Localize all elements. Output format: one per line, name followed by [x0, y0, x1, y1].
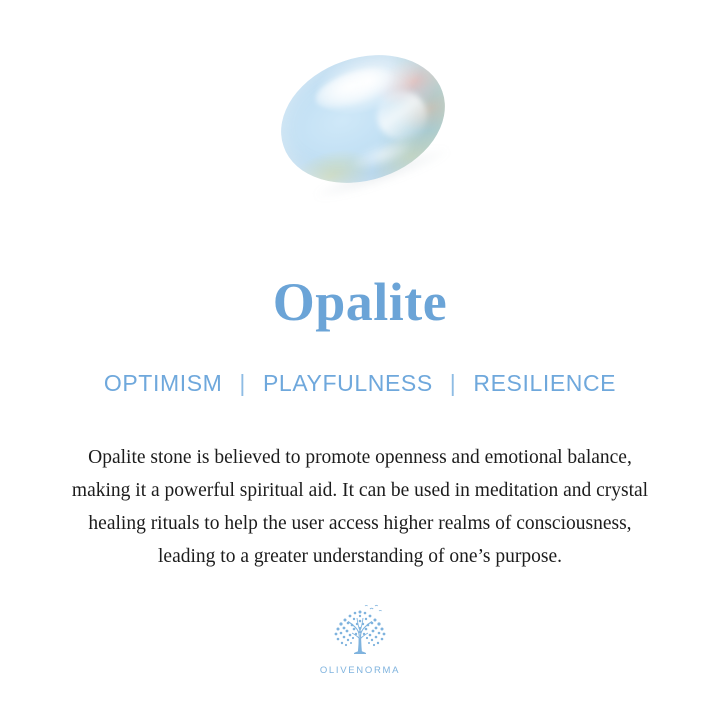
stone-green-rim [264, 33, 463, 203]
brand-logo: OLIVENORMA [320, 601, 400, 676]
keyword-separator: | [433, 370, 474, 397]
description-line: healing rituals to help the user access … [15, 507, 705, 540]
page-title: Opalite [273, 275, 448, 329]
keyword-list: OPTIMISM | PLAYFULNESS | RESILIENCE [104, 370, 616, 397]
gemstone-image-area [0, 0, 720, 275]
keyword-resilience: RESILIENCE [473, 370, 616, 397]
keyword-separator: | [222, 370, 263, 397]
keyword-optimism: OPTIMISM [104, 370, 223, 397]
description-line: Opalite stone is believed to promote ope… [15, 441, 705, 474]
opalite-stone-image [264, 33, 463, 203]
description-line: leading to a greater understanding of on… [15, 540, 705, 573]
brand-name: OLIVENORMA [320, 665, 400, 676]
product-info-card: Opalite OPTIMISM | PLAYFULNESS | RESILIE… [0, 0, 720, 720]
description-line: making it a powerful spiritual aid. It c… [15, 474, 705, 507]
keyword-playfulness: PLAYFULNESS [263, 370, 433, 397]
tree-icon [324, 601, 396, 663]
description-paragraph: Opalite stone is believed to promote ope… [15, 441, 705, 573]
